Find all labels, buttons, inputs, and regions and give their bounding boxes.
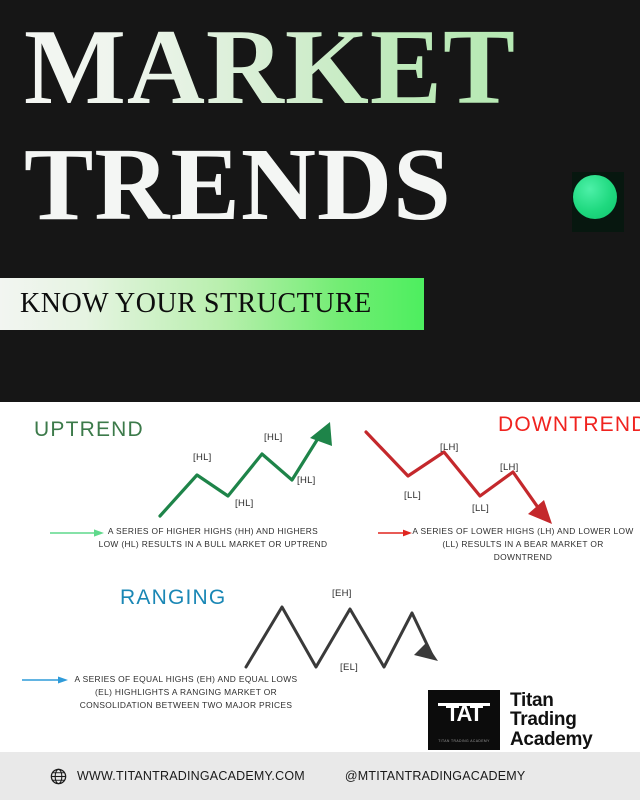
uptrend-description: A SERIES OF HIGHER HIGHS (HH) AND HIGHER… — [98, 525, 328, 551]
page-title-line1: MARKET — [24, 14, 516, 122]
uptrend-label-3: [HL] — [264, 432, 283, 443]
uptrend-label-1: [HL] — [193, 452, 212, 463]
downtrend-desc-arrow-icon — [378, 527, 414, 539]
section-heading-uptrend: UPTREND — [34, 418, 144, 442]
logo-word-1: Titan — [510, 691, 592, 710]
downtrend-label-1: [LL] — [404, 490, 421, 501]
logo-wordmark: Titan Trading Academy — [510, 691, 592, 749]
ranging-line — [246, 607, 432, 667]
downtrend-label-3: [LL] — [472, 503, 489, 514]
logo-word-3: Academy — [510, 730, 592, 749]
header-banner: MARKET TRENDS KNOW YOUR STRUCTURE — [0, 0, 640, 402]
logo-monogram: TAT — [428, 701, 500, 727]
ranging-desc-arrow-icon — [22, 674, 70, 686]
brand-logo[interactable]: TAT TITAN TRADING ACADEMY Titan Trading … — [428, 690, 592, 750]
downtrend-description: A SERIES OF LOWER HIGHS (LH) AND LOWER L… — [412, 525, 634, 564]
page-title-line2: TRENDS — [24, 133, 452, 237]
green-dot-icon — [573, 175, 617, 219]
footer-social-handle[interactable]: @MTITANTRADINGACADEMY — [345, 769, 526, 783]
downtrend-arrowhead — [528, 500, 552, 524]
ranging-arrowhead — [414, 643, 438, 661]
logo-tagline: TITAN TRADING ACADEMY — [428, 739, 500, 743]
logo-word-2: Trading — [510, 710, 592, 729]
downtrend-label-4: [LH] — [500, 462, 519, 473]
uptrend-label-2: [HL] — [235, 498, 254, 509]
subtitle-banner: KNOW YOUR STRUCTURE — [0, 278, 424, 330]
subtitle-text: KNOW YOUR STRUCTURE — [0, 288, 372, 320]
globe-icon — [50, 768, 67, 785]
downtrend-label-2: [LH] — [440, 442, 459, 453]
ranging-description: A SERIES OF EQUAL HIGHS (EH) AND EQUAL L… — [66, 673, 306, 712]
ranging-label-el: [EL] — [340, 662, 358, 673]
footer-website-link[interactable]: WWW.TITANTRADINGACADEMY.COM — [77, 769, 305, 783]
ranging-label-eh: [EH] — [332, 588, 352, 599]
uptrend-arrowhead — [310, 422, 332, 446]
section-heading-ranging: RANGING — [120, 586, 226, 610]
logo-mark-icon: TAT TITAN TRADING ACADEMY — [428, 690, 500, 750]
footer-bar: WWW.TITANTRADINGACADEMY.COM @MTITANTRADI… — [0, 752, 640, 800]
downtrend-chart — [358, 424, 558, 529]
uptrend-label-4: [HL] — [297, 475, 316, 486]
